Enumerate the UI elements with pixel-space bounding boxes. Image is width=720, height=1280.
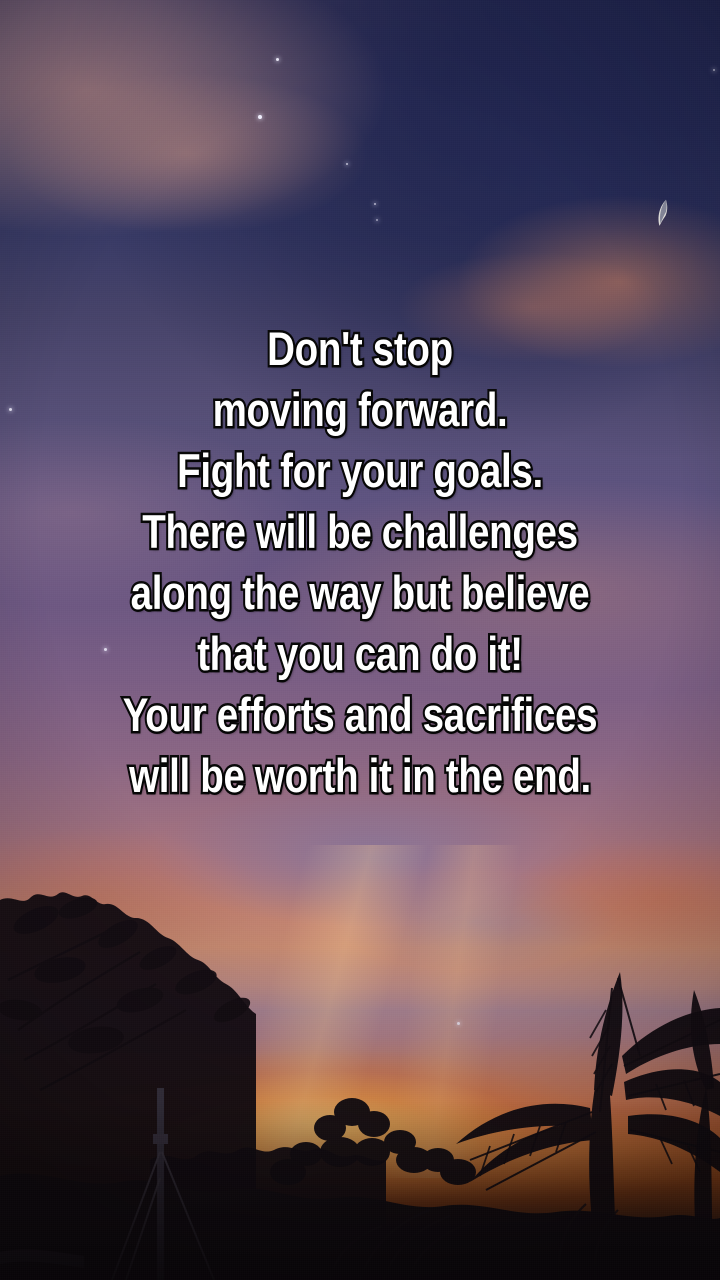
star	[713, 69, 715, 71]
star	[346, 163, 348, 165]
star	[276, 58, 279, 61]
quote-line: There will be challenges	[65, 501, 655, 562]
star	[376, 219, 378, 221]
quote-block: Don't stop moving forward. Fight for you…	[0, 318, 720, 806]
quote-line: Your efforts and sacrifices	[65, 684, 655, 745]
star	[258, 115, 262, 119]
quote-line: moving forward.	[65, 379, 655, 440]
star	[374, 203, 376, 205]
quote-line: Don't stop	[65, 318, 655, 379]
quote-poster: Don't stop moving forward. Fight for you…	[0, 0, 720, 1280]
crescent-moon-icon	[642, 192, 688, 238]
quote-line: Fight for your goals.	[65, 440, 655, 501]
quote-line: along the way but believe	[65, 562, 655, 623]
quote-line: will be worth it in the end.	[65, 745, 655, 806]
foliage-silhouette	[0, 860, 720, 1280]
quote-line: that you can do it!	[65, 623, 655, 684]
